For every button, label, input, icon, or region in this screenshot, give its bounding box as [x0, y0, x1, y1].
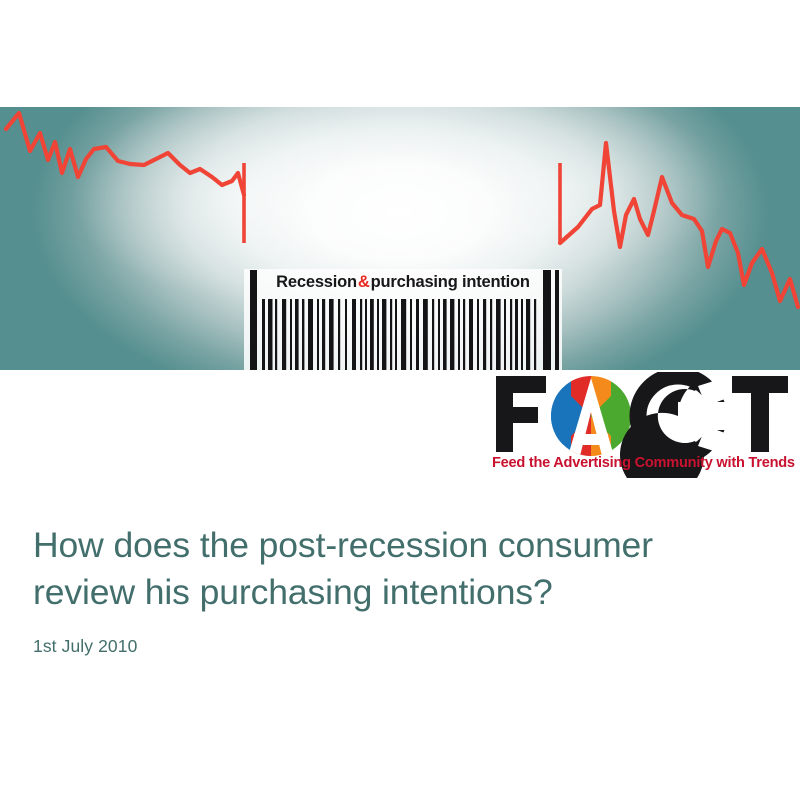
barcode-graphic: Recession & purchasing intention	[244, 269, 562, 370]
trend-line-right	[560, 143, 798, 307]
trend-line-left	[6, 113, 244, 195]
slide-date: 1st July 2010	[33, 616, 763, 657]
fact-logo: Feed the Advertising Community with Tren…	[492, 372, 792, 478]
fact-letter-f-icon	[496, 376, 546, 452]
slide-canvas: Recession & purchasing intention	[0, 0, 800, 800]
barcode-label: Recession & purchasing intention	[262, 269, 544, 295]
barcode-label-ampersand: &	[357, 273, 371, 292]
barcode-label-part1: Recession	[276, 273, 357, 292]
page-title: How does the post-recession consumer rev…	[33, 522, 763, 616]
fact-logo-tagline: Feed the Advertising Community with Tren…	[492, 455, 792, 471]
banner-image: Recession & purchasing intention	[0, 107, 800, 370]
title-block: How does the post-recession consumer rev…	[33, 522, 763, 657]
barcode-label-part2: purchasing intention	[371, 273, 530, 292]
